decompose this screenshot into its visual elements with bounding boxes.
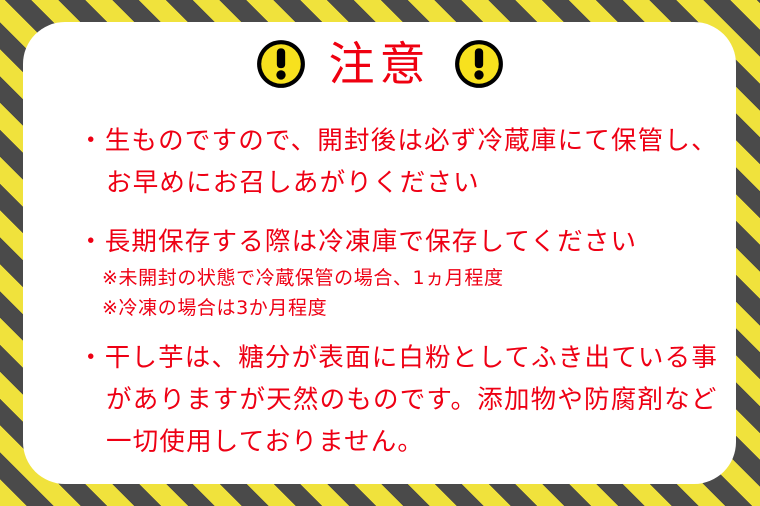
- notice-note-line: ※未開封の状態で冷蔵保管の場合、1ヵ月程度: [78, 263, 716, 293]
- list-item: ・生ものですので、開封後は必ず冷蔵庫にて保管し、 お早めにお召しあがりください: [78, 120, 716, 204]
- spacer: [78, 204, 716, 221]
- notice-line: お早めにお召しあがりください: [78, 162, 716, 204]
- notice-card-inner: 注意 ・生ものですので、開封後は必ず冷蔵庫にて保管し、 お早めにお召しあがりくだ…: [23, 22, 736, 484]
- notice-line: ・干し芋は、糖分が表面に白粉としてふき出ている事: [78, 337, 716, 379]
- list-item: ・干し芋は、糖分が表面に白粉としてふき出ている事 がありますが天然のものです。添…: [78, 337, 716, 463]
- notice-list: ・生ものですので、開封後は必ず冷蔵庫にて保管し、 お早めにお召しあがりください …: [78, 120, 716, 463]
- list-item: ・長期保存する際は冷凍庫で保存してください ※未開封の状態で冷蔵保管の場合、1ヵ…: [78, 221, 716, 323]
- warning-exclamation-icon-right: [453, 38, 505, 90]
- notice-banner: 注意 ・生ものですので、開封後は必ず冷蔵庫にて保管し、 お早めにお召しあがりくだ…: [0, 0, 760, 506]
- page-title: 注意: [329, 38, 431, 90]
- title-row: 注意: [23, 31, 736, 97]
- notice-card: 注意 ・生ものですので、開封後は必ず冷蔵庫にて保管し、 お早めにお召しあがりくだ…: [23, 22, 736, 484]
- notice-line: がありますが天然のものです。添加物や防腐剤など: [78, 379, 716, 421]
- notice-note-line: ※冷凍の場合は3か月程度: [78, 293, 716, 323]
- warning-exclamation-icon-left: [255, 38, 307, 90]
- notice-line: ・生ものですので、開封後は必ず冷蔵庫にて保管し、: [78, 120, 716, 162]
- spacer: [78, 323, 716, 337]
- notice-line: 一切使用しておりません。: [78, 421, 716, 463]
- notice-line: ・長期保存する際は冷凍庫で保存してください: [78, 221, 716, 263]
